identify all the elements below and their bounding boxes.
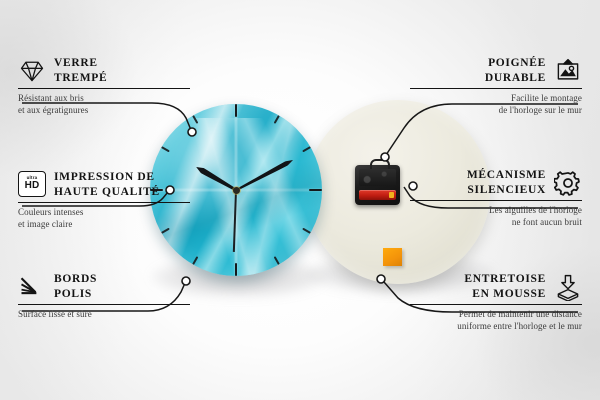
feature-head: MÉCANISME SILENCIEUX	[410, 168, 582, 197]
feature-divider	[18, 202, 190, 203]
feature-divider	[410, 88, 582, 89]
foam-spacer-icon	[554, 273, 582, 301]
feature-description: Surface lisse et sûre	[18, 308, 190, 320]
feature-title: POIGNÉE DURABLE	[485, 56, 546, 85]
feature-head: ultra HD IMPRESSION DE HAUTE QUALITÉ	[18, 170, 190, 199]
battery-terminal	[389, 192, 394, 198]
feature-entretoise-en-mousse: ENTRETOISE EN MOUSSE Permet de maintenir…	[410, 272, 582, 333]
ultra-hd-badge-icon: ultra HD	[18, 171, 46, 199]
feature-description: Couleurs intenses et image claire	[18, 206, 190, 230]
feature-divider	[410, 304, 582, 305]
feature-impression-haute-qualite: ultra HD IMPRESSION DE HAUTE QUALITÉ Cou…	[18, 170, 190, 231]
feature-description: Résistant aux bris et aux égratignures	[18, 92, 190, 116]
infographic-stage: VERRE TREMPÉ Résistant aux bris et aux é…	[0, 0, 600, 400]
battery	[359, 190, 396, 200]
feature-title: BORDS POLIS	[54, 272, 97, 301]
feature-description: Facilite le montage de l'horloge sur le …	[410, 92, 582, 116]
feature-divider	[18, 304, 190, 305]
feature-divider	[410, 200, 582, 201]
feature-divider	[18, 88, 190, 89]
hour-marker-3	[236, 189, 322, 191]
feature-title: VERRE TREMPÉ	[54, 56, 107, 85]
hour-marker-12	[235, 104, 237, 190]
picture-hanger-icon	[554, 57, 582, 85]
foam-spacer	[383, 248, 402, 266]
clock-mechanism	[355, 165, 400, 205]
hands-center-cap	[233, 187, 240, 194]
hd-badge-hd-label: HD	[25, 181, 40, 191]
diamond-icon	[18, 57, 46, 85]
feature-head: ENTRETOISE EN MOUSSE	[410, 272, 582, 301]
feature-head: POIGNÉE DURABLE	[410, 56, 582, 85]
feature-verre-trempe: VERRE TREMPÉ Résistant aux bris et aux é…	[18, 56, 190, 117]
gear-icon	[554, 169, 582, 197]
feature-title: IMPRESSION DE HAUTE QUALITÉ	[54, 170, 160, 199]
feature-description: Permet de maintenir une distance uniform…	[410, 308, 582, 332]
feature-title: ENTRETOISE EN MOUSSE	[464, 272, 546, 301]
feature-bords-polis: BORDS POLIS Surface lisse et sûre	[18, 272, 190, 320]
feature-poignee-durable: POIGNÉE DURABLE Facilite le montage de l…	[410, 56, 582, 117]
feature-title: MÉCANISME SILENCIEUX	[467, 168, 546, 197]
feature-head: VERRE TREMPÉ	[18, 56, 190, 85]
feature-description: Les aiguilles de l'horloge ne font aucun…	[410, 204, 582, 228]
polished-edges-icon	[18, 273, 46, 301]
feature-mecanisme-silencieux: MÉCANISME SILENCIEUX Les aiguilles de l'…	[410, 168, 582, 229]
feature-head: BORDS POLIS	[18, 272, 190, 301]
mechanism-housing-detail	[359, 169, 396, 186]
